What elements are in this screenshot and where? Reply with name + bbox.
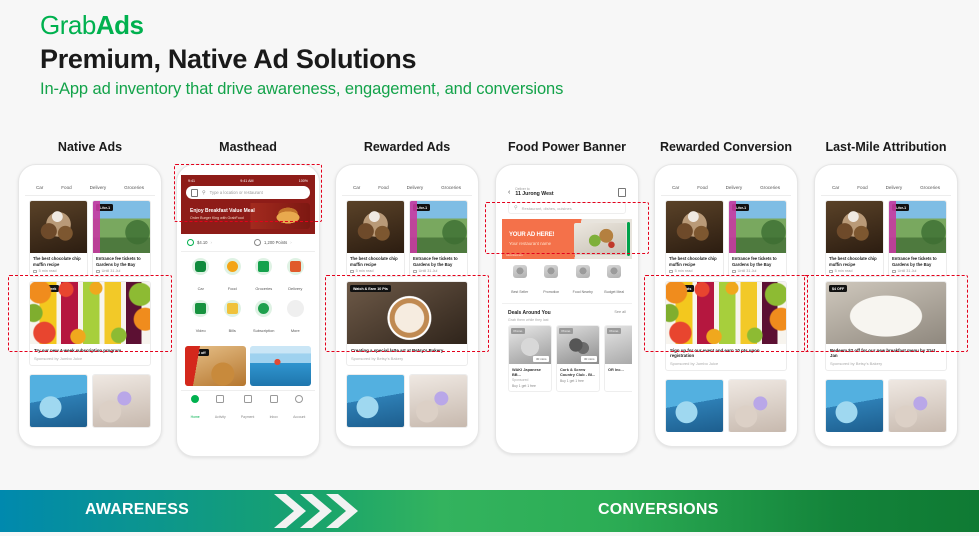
wallet-points-row: $4.10› 1,200 Points› — [181, 234, 315, 252]
rewarded-ad-title: Creating a special latte art at Betsy's … — [351, 348, 463, 353]
muffin-image — [826, 201, 883, 253]
nav-activity[interactable]: Activity — [215, 395, 226, 423]
promo-tile-food[interactable]: $2.50 off — [185, 346, 246, 386]
rewarded-ad-badge: Watch & Earn 10 Pts — [350, 285, 391, 292]
feed-card-title: Entrance fee tickets to Gardens by the B… — [892, 256, 943, 267]
offer-badge: 1-for-1 — [96, 204, 113, 211]
native-ad-card[interactable]: Free 1 week Try our new 4-week subscript… — [29, 281, 151, 366]
delivery-address-header[interactable]: ‹ Deliver to 11 Jurong West — [502, 179, 632, 202]
garden-image: 1-for-1 — [410, 201, 467, 253]
juice-bottles-image: Free 1 week — [30, 282, 150, 344]
feed-card-title: The best chocolate chip muffin recipe — [829, 256, 880, 267]
quick-links-row: Best Seller Promotion Food Nearby Budget… — [502, 259, 632, 304]
deal-card[interactable]: Promo 30 mins WAKI Japanese BB... Sponso… — [508, 325, 552, 393]
latte-art-image: Watch & Earn 10 Pts — [347, 282, 467, 344]
feed-card-meta: Until 31 Jul — [413, 269, 464, 273]
feed-card-garden[interactable]: 1-for-1 Entrance fee tickets to Gardens … — [728, 200, 787, 277]
payment-icon — [244, 395, 252, 403]
promotion-icon — [544, 265, 558, 278]
bottom-nav-bar[interactable]: Home Activity Payment Inbox Account — [181, 390, 315, 426]
feed-card-travel[interactable] — [665, 379, 724, 432]
feed-card-garden[interactable]: 1-for-1 Entrance fee tickets to Gardens … — [888, 200, 947, 277]
feed-card-row: The best chocolate chip muffin recipe 5 … — [25, 196, 155, 277]
phone-mockup-native-ads: Car Food Delivery Groceries The best cho… — [18, 164, 162, 447]
status-time: 9:41 AM — [240, 179, 253, 183]
phone-screen: Car Food Delivery Groceries The best cho… — [25, 179, 155, 432]
column-heading-rewarded-ads: Rewarded Ads — [327, 140, 487, 154]
last-mile-title: Redeem $2 off for our new breakfast menu… — [830, 348, 942, 358]
feed-tab-strip[interactable]: Car Food Delivery Groceries — [821, 179, 951, 196]
service-bills[interactable]: Bills — [217, 300, 249, 337]
feed-tab-delivery[interactable]: Delivery — [886, 185, 903, 190]
food-icon — [224, 258, 241, 275]
feed-card-row: The best chocolate chip muffin recipe 5 … — [342, 196, 472, 277]
points-value: 1,200 Points — [264, 240, 287, 245]
column-rewarded-conversion: Rewarded Conversion Car Food Delivery Gr… — [646, 140, 806, 447]
groceries-icon — [255, 258, 272, 275]
service-label: Food — [228, 286, 237, 291]
feed-card-shop[interactable] — [92, 374, 151, 428]
feed-tab-food[interactable]: Food — [61, 185, 71, 190]
column-heading-last-mile: Last-Mile Attribution — [806, 140, 966, 154]
best-seller-icon — [513, 265, 527, 278]
travel-image — [347, 375, 404, 427]
page-subtitle: In-App ad inventory that drive awareness… — [40, 80, 563, 99]
nav-payment[interactable]: Payment — [241, 395, 254, 423]
search-placeholder: Restaurant, dishes, cuisines — [522, 206, 572, 211]
phone-screen: Car Food Delivery Groceries The best cho… — [821, 179, 951, 432]
read-icon — [669, 270, 673, 274]
feed-tab-car[interactable]: Car — [672, 185, 679, 190]
offer-badge: 1-for-1 — [732, 204, 749, 211]
notes-icon[interactable] — [618, 188, 626, 197]
masthead-banner-sub: Order Burger King with GrabFood — [190, 216, 244, 220]
feed-tab-food[interactable]: Food — [697, 185, 707, 190]
scroll-indicator — [627, 222, 630, 256]
feed-card-title: Entrance fee tickets to Gardens by the B… — [96, 256, 147, 267]
service-label: Video — [196, 328, 206, 333]
calendar-icon — [732, 270, 736, 274]
quick-link-food-nearby[interactable]: Food Nearby — [567, 265, 599, 298]
car-icon — [192, 258, 209, 275]
column-heading-food-power-banner: Food Power Banner — [487, 140, 647, 154]
feed-card-muffin[interactable]: The best chocolate chip muffin recipe 5 … — [665, 200, 724, 277]
feed-tab-delivery[interactable]: Delivery — [407, 185, 424, 190]
page-title: Premium, Native Ad Solutions — [40, 44, 416, 75]
deal-title: WAKI Japanese BB... — [512, 367, 548, 377]
status-battery: 100% — [299, 179, 308, 183]
service-food[interactable]: Food — [217, 258, 249, 295]
garden-image: 1-for-1 — [889, 201, 946, 253]
funnel-label-awareness: AWARENESS — [85, 501, 189, 519]
feed-card-row: The best chocolate chip muffin recipe 5 … — [821, 196, 951, 277]
column-heading-masthead: Masthead — [168, 140, 328, 154]
muffin-image — [30, 201, 87, 253]
phone-mockup-rewarded-conversion: Car Food Delivery Groceries The best cho… — [654, 164, 798, 447]
feed-card-muffin[interactable]: The best chocolate chip muffin recipe 5 … — [346, 200, 405, 277]
back-chevron-icon[interactable]: ‹ — [508, 189, 510, 196]
feed-card-meta-text: 5 min read — [39, 269, 57, 273]
travel-image — [826, 380, 883, 432]
feed-tab-car[interactable]: Car — [36, 185, 43, 190]
service-subscription[interactable]: Subscription — [248, 300, 280, 337]
feed-tab-strip[interactable]: Car Food Delivery Groceries — [342, 179, 472, 196]
service-grid: Car Food Groceries Delivery Video Bills … — [181, 252, 315, 346]
feed-tab-food[interactable]: Food — [378, 185, 388, 190]
native-ad-badge: Free 1 week — [33, 285, 59, 292]
service-label: Car — [198, 286, 204, 291]
travel-image — [30, 375, 87, 427]
eta-tag: 30 mins — [533, 356, 549, 362]
promo-badge: $2.50 off — [188, 349, 209, 356]
feed-card-row-bottom — [342, 370, 472, 428]
feed-card-meta-text: Until 31 Jul — [738, 269, 757, 273]
calendar-icon — [413, 270, 417, 274]
feed-card-muffin[interactable]: The best chocolate chip muffin recipe 5 … — [825, 200, 884, 277]
promo-tag: Promo — [559, 328, 573, 334]
chevron-arrows-icon — [272, 490, 372, 532]
feed-card-title: The best chocolate chip muffin recipe — [669, 256, 720, 267]
last-mile-sponsor: Sponsored by Betsy's Bakery — [830, 361, 942, 366]
feed-card-meta-text: Until 31 Jul — [102, 269, 121, 273]
logo-ads-text: Ads — [96, 10, 144, 40]
quick-link-label: Food Nearby — [573, 290, 593, 294]
banner-ad-sub: Your restaurant name — [509, 241, 551, 246]
feed-card-meta: 5 min read — [669, 269, 720, 273]
service-label: Bills — [229, 328, 236, 333]
service-groceries[interactable]: Groceries — [248, 258, 280, 295]
feed-card-meta: Until 31 Jul — [96, 269, 147, 273]
travel-image — [666, 380, 723, 432]
phone-screen: Car Food Delivery Groceries The best cho… — [342, 179, 472, 432]
column-heading-rewarded-conversion: Rewarded Conversion — [646, 140, 806, 154]
promo-tiles: $2.50 off — [181, 346, 315, 386]
banner-ad-disclaimer: Advertisement — [506, 254, 523, 257]
service-label: Subscription — [253, 328, 274, 333]
menu-icon — [191, 189, 198, 197]
wallet-icon — [187, 239, 194, 246]
garden-image: 1-for-1 — [729, 201, 786, 253]
offer-badge: 1-for-1 — [413, 204, 430, 211]
food-power-banner-ad[interactable]: YOUR AD HERE! Your restaurant name Adver… — [502, 219, 632, 259]
deal-title: Cork & Screw Country Club - BI... — [560, 367, 596, 377]
muffin-image — [347, 201, 404, 253]
feed-tab-strip[interactable]: Car Food Delivery Groceries — [25, 179, 155, 196]
shop-image — [729, 380, 786, 432]
quick-link-budget-meal[interactable]: Budget Meal — [599, 265, 631, 298]
promo-tag: Promo — [511, 328, 525, 334]
feed-card-meta-text: 5 min read — [675, 269, 693, 273]
feed-card-title: The best chocolate chip muffin recipe — [350, 256, 401, 267]
address-block[interactable]: Deliver to 11 Jurong West — [515, 187, 613, 197]
phone-mockup-masthead: 9:41 9:41 AM 100% ⚲ Type a location or r… — [176, 164, 320, 457]
column-masthead: Masthead 9:41 9:41 AM 100% ⚲ Type a loca… — [168, 140, 328, 457]
promo-tag: Promo — [607, 328, 621, 334]
breakfast-image: $4 OFF — [826, 282, 946, 344]
calendar-icon — [96, 270, 100, 274]
feed-card-meta-text: 5 min read — [356, 269, 374, 273]
service-more[interactable]: More — [280, 300, 312, 337]
read-icon — [829, 270, 833, 274]
phone-mockup-food-power: ‹ Deliver to 11 Jurong West ⚲ Restaurant… — [495, 164, 639, 454]
feed-tab-car[interactable]: Car — [353, 185, 360, 190]
feed-card-row-bottom — [821, 375, 951, 432]
search-icon: ⚲ — [514, 205, 518, 211]
feed-card-meta: 5 min read — [33, 269, 84, 273]
feed-card-garden[interactable]: 1-for-1 Entrance fee tickets to Gardens … — [92, 200, 151, 277]
nav-home[interactable]: Home — [191, 395, 200, 423]
food-nearby-icon — [576, 265, 590, 278]
feed-card-row-bottom — [661, 375, 791, 432]
deals-subheading: Grab them while they last — [508, 318, 551, 322]
shop-image — [410, 375, 467, 427]
column-food-power-banner: Food Power Banner ‹ Deliver to 11 Jurong… — [487, 140, 647, 454]
delivery-address: 11 Jurong West — [515, 191, 613, 197]
offer-badge: 1-for-1 — [892, 204, 909, 211]
deals-section-header: Deals Around You Grab them while they la… — [502, 304, 632, 325]
deal-card[interactable]: Promo OR Inc... — [604, 325, 632, 393]
rewarded-conversion-badge: Earn 10 pts — [669, 285, 694, 292]
feed-card-title: Entrance fee tickets to Gardens by the B… — [413, 256, 464, 267]
status-bar: 9:41 9:41 AM 100% — [186, 179, 310, 186]
muffin-image — [666, 201, 723, 253]
shop-image — [889, 380, 946, 432]
last-mile-ad-card[interactable]: $4 OFF Redeem $2 off for our new breakfa… — [825, 281, 947, 371]
deal-card[interactable]: Promo 30 mins Cork & Screw Country Club … — [556, 325, 600, 393]
service-car[interactable]: Car — [185, 258, 217, 295]
feed-card-meta-text: Until 31 Jul — [419, 269, 438, 273]
nav-label: Account — [293, 415, 305, 419]
native-ad-sponsor: Sponsored by Jumbo Juice — [34, 356, 146, 361]
grabads-logo: GrabAds — [40, 10, 143, 41]
deal-offer: Buy 1 get 1 free — [560, 379, 596, 383]
nav-label: Activity — [215, 415, 226, 419]
video-icon — [192, 300, 209, 317]
search-icon: ⚲ — [202, 190, 206, 196]
funnel-chevrons — [272, 490, 372, 532]
logo-grab-text: Grab — [40, 10, 96, 40]
deal-image: Promo — [605, 326, 632, 364]
feed-card-meta-text: Until 31 Jul — [898, 269, 917, 273]
feed-tab-food[interactable]: Food — [857, 185, 867, 190]
rewarded-conversion-title: Sign up for our event and earn 10 pts up… — [670, 348, 782, 358]
feed-card-meta: 5 min read — [829, 269, 880, 273]
feed-card-meta: Until 31 Jul — [732, 269, 783, 273]
rewarded-conversion-card[interactable]: Earn 10 pts Sign up for our event and ea… — [665, 281, 787, 371]
last-mile-badge: $4 OFF — [829, 285, 847, 292]
delivery-icon — [287, 258, 304, 275]
feed-tab-car[interactable]: Car — [832, 185, 839, 190]
rewarded-ad-sponsor: Sponsored by Betsy's Bakery — [351, 356, 463, 361]
nav-label: Inbox — [270, 415, 278, 419]
service-label: Delivery — [288, 286, 302, 291]
feed-card-row-bottom — [25, 370, 155, 428]
salad-plate-image — [574, 223, 626, 255]
nav-label: Home — [191, 415, 200, 419]
quick-link-best-seller[interactable]: Best Seller — [504, 265, 536, 298]
phone-screen: ‹ Deliver to 11 Jurong West ⚲ Restaurant… — [502, 179, 632, 439]
quick-link-label: Budget Meal — [604, 290, 624, 294]
feed-tab-groceries[interactable]: Groceries — [124, 185, 144, 190]
wallet-balance[interactable]: $4.10› — [181, 234, 248, 251]
native-ad-title: Try our new 4-week subscription program — [34, 348, 146, 353]
masthead-ad-zone[interactable]: 9:41 9:41 AM 100% ⚲ Type a location or r… — [181, 175, 315, 234]
banner-ad-title: YOUR AD HERE! — [509, 232, 554, 238]
ad-products-row: Native Ads Car Food Delivery Groceries T… — [0, 140, 979, 470]
more-icon — [287, 300, 304, 317]
feed-card-travel[interactable] — [346, 374, 405, 428]
deals-heading: Deals Around You — [508, 310, 551, 316]
food-search-bar[interactable]: ⚲ Restaurant, dishes, cuisines — [508, 202, 626, 214]
subscription-icon — [255, 300, 272, 317]
feed-card-title: Entrance fee tickets to Gardens by the B… — [732, 256, 783, 267]
feed-card-travel[interactable] — [29, 374, 88, 428]
bills-icon — [224, 300, 241, 317]
rewarded-conversion-sponsor: Sponsored by Jumbo Juice — [670, 361, 782, 366]
deal-image: Promo 30 mins — [509, 326, 551, 364]
masthead-banner-title: Enjoy Breakfast Value Meal — [190, 208, 255, 214]
phone-screen: 9:41 9:41 AM 100% ⚲ Type a location or r… — [181, 175, 315, 446]
feed-tab-delivery[interactable]: Delivery — [726, 185, 743, 190]
phone-screen: Car Food Delivery Groceries The best cho… — [661, 179, 791, 432]
home-icon — [191, 395, 199, 403]
quick-link-promotion[interactable]: Promotion — [536, 265, 568, 298]
feed-card-garden[interactable]: 1-for-1 Entrance fee tickets to Gardens … — [409, 200, 468, 277]
deal-image: Promo 30 mins — [557, 326, 599, 364]
service-video[interactable]: Video — [185, 300, 217, 337]
juice-bottles-image: Earn 10 pts — [666, 282, 786, 344]
inbox-icon — [270, 395, 278, 403]
service-label: Groceries — [255, 286, 272, 291]
feed-card-meta: Until 31 Jul — [892, 269, 943, 273]
feed-tab-strip[interactable]: Car Food Delivery Groceries — [661, 179, 791, 196]
deal-offer: Buy 1 get 1 free — [512, 384, 548, 388]
account-icon — [295, 395, 303, 403]
service-label: More — [291, 328, 300, 333]
rewarded-ad-card[interactable]: Watch & Earn 10 Pts Creating a special l… — [346, 281, 468, 366]
nav-account[interactable]: Account — [293, 395, 305, 423]
feed-tab-groceries[interactable]: Groceries — [441, 185, 461, 190]
eta-tag: 30 mins — [581, 356, 597, 362]
quick-link-label: Best Seller — [511, 290, 528, 294]
feed-card-shop[interactable] — [888, 379, 947, 432]
feed-tab-groceries[interactable]: Groceries — [760, 185, 780, 190]
phone-mockup-rewarded-ads: Car Food Delivery Groceries The best cho… — [335, 164, 479, 447]
see-all-link[interactable]: See all — [614, 310, 626, 314]
budget-meal-icon — [607, 265, 621, 278]
quick-link-label: Promotion — [543, 290, 559, 294]
column-rewarded-ads: Rewarded Ads Car Food Delivery Groceries… — [327, 140, 487, 447]
read-icon — [350, 270, 354, 274]
masthead-search-bar[interactable]: ⚲ Type a location or restaurant — [186, 186, 310, 199]
funnel-label-conversions: CONVERSIONS — [598, 501, 718, 519]
promo-tile-pool[interactable] — [250, 346, 311, 386]
read-icon — [33, 270, 37, 274]
funnel-bar: AWARENESS CONVERSIONS — [0, 490, 979, 532]
feed-card-meta-text: 5 min read — [835, 269, 853, 273]
nav-label: Payment — [241, 415, 254, 419]
search-placeholder: Type a location or restaurant — [210, 190, 263, 195]
feed-card-title: The best chocolate chip muffin recipe — [33, 256, 84, 267]
shop-image — [93, 375, 150, 427]
column-last-mile-attribution: Last-Mile Attribution Car Food Delivery … — [806, 140, 966, 447]
burger-image — [268, 207, 308, 226]
garden-image: 1-for-1 — [93, 201, 150, 253]
feed-tab-delivery[interactable]: Delivery — [90, 185, 107, 190]
status-signal: 9:41 — [188, 179, 195, 183]
column-heading-native-ads: Native Ads — [10, 140, 170, 154]
activity-icon — [216, 395, 224, 403]
feed-card-travel[interactable] — [825, 379, 884, 432]
feed-card-meta: 5 min read — [350, 269, 401, 273]
points-balance[interactable]: 1,200 Points› — [248, 234, 315, 251]
feed-tab-groceries[interactable]: Groceries — [920, 185, 940, 190]
deal-sponsored: Sponsored — [512, 378, 548, 382]
feed-card-shop[interactable] — [409, 374, 468, 428]
feed-card-shop[interactable] — [728, 379, 787, 432]
points-icon — [254, 239, 261, 246]
service-delivery[interactable]: Delivery — [280, 258, 312, 295]
feed-card-row: The best chocolate chip muffin recipe 5 … — [661, 196, 791, 277]
deal-card-list: Promo 30 mins WAKI Japanese BB... Sponso… — [502, 325, 632, 393]
calendar-icon — [892, 270, 896, 274]
column-native-ads: Native Ads Car Food Delivery Groceries T… — [10, 140, 170, 447]
phone-mockup-last-mile: Car Food Delivery Groceries The best cho… — [814, 164, 958, 447]
feed-card-muffin[interactable]: The best chocolate chip muffin recipe 5 … — [29, 200, 88, 277]
nav-inbox[interactable]: Inbox — [270, 395, 278, 423]
wallet-amount: $4.10 — [197, 240, 207, 245]
deal-title: OR Inc... — [608, 367, 632, 372]
masthead-banner[interactable]: Enjoy Breakfast Value Meal Order Burger … — [186, 203, 310, 229]
